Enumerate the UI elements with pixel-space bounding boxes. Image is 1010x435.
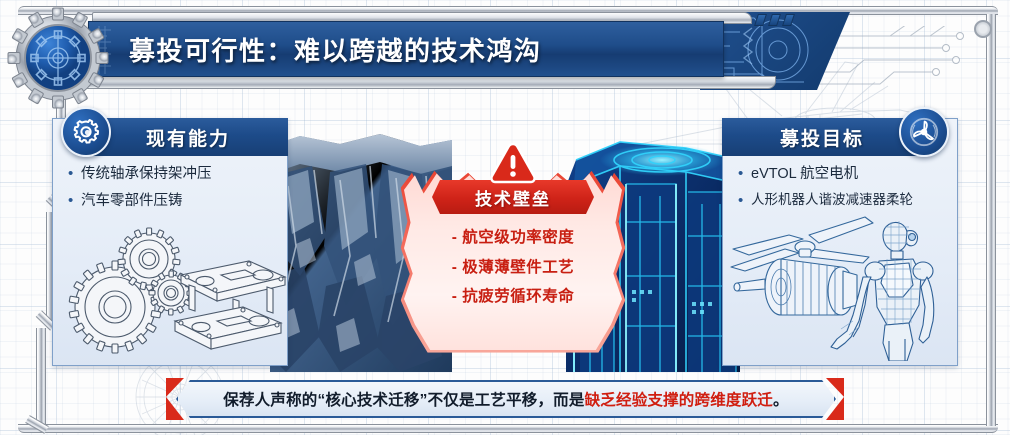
slide-root: 募投可行性：难以跨越的技术鸿沟 [0,0,1010,435]
technology-barrier-badge: 技术壁垒 - 航空级功率密度 - 极薄薄壁件工艺 - 抗疲劳循环寿命 [404,168,622,350]
panel-left-header: 现有能力 [88,118,288,156]
banner-prefix: 保荐人声称的“核心技术迁移”不仅是工艺平移，而是 [223,392,584,409]
panel-right-title: 募投目标 [780,124,864,151]
propeller-turbine-icon [899,107,949,157]
list-item: - 抗疲劳循环寿命 [404,289,622,305]
panel-existing-capability: 现有能力 传统轴承保持架冲压 汽车零部件压铸 [52,118,288,366]
gear-emblem-icon [6,6,110,110]
panel-funding-target: 募投目标 eVTOL 航空电机 人形机器人谐波减速器柔轮 [722,118,958,366]
barrier-item-list: - 航空级功率密度 - 极薄薄壁件工艺 - 抗疲劳循环寿命 [404,230,622,319]
slide-title-bar: 募投可行性：难以跨越的技术鸿沟 [88,21,724,77]
gear-icon [61,107,111,157]
barrier-label-plate: 技术壁垒 [432,180,594,214]
panel-left-list: 传统轴承保持架冲压 汽车零部件压铸 [67,163,277,218]
banner-highlight: 缺乏经验支撑的跨维度跃迁 [585,392,773,409]
list-item: 汽车零部件压铸 [67,190,277,212]
list-item: 人形机器人谐波减速器柔轮 [737,190,947,211]
conclusion-banner: 保荐人声称的“核心技术迁移”不仅是工艺平移，而是缺乏经验支撑的跨维度跃迁。 [176,380,836,418]
conclusion-banner-text: 保荐人声称的“核心技术迁移”不仅是工艺平移，而是缺乏经验支撑的跨维度跃迁。 [223,388,788,410]
warning-triangle-icon [490,142,536,184]
list-item: 传统轴承保持架冲压 [67,163,277,185]
corner-ring-decor [974,20,992,38]
list-item: - 航空级功率密度 [404,230,622,246]
list-item: eVTOL 航空电机 [737,163,947,185]
banner-suffix: 。 [773,392,789,409]
evtol-motor-robot-art [723,209,957,361]
panel-left-title: 现有能力 [146,124,230,151]
panel-right-list: eVTOL 航空电机 人形机器人谐波减速器柔轮 [737,163,947,216]
barrier-label-text: 技术壁垒 [475,185,551,210]
panel-right-header: 募投目标 [722,118,922,156]
gears-stamping-die-art [53,209,287,361]
list-item: - 极薄薄壁件工艺 [404,260,622,276]
